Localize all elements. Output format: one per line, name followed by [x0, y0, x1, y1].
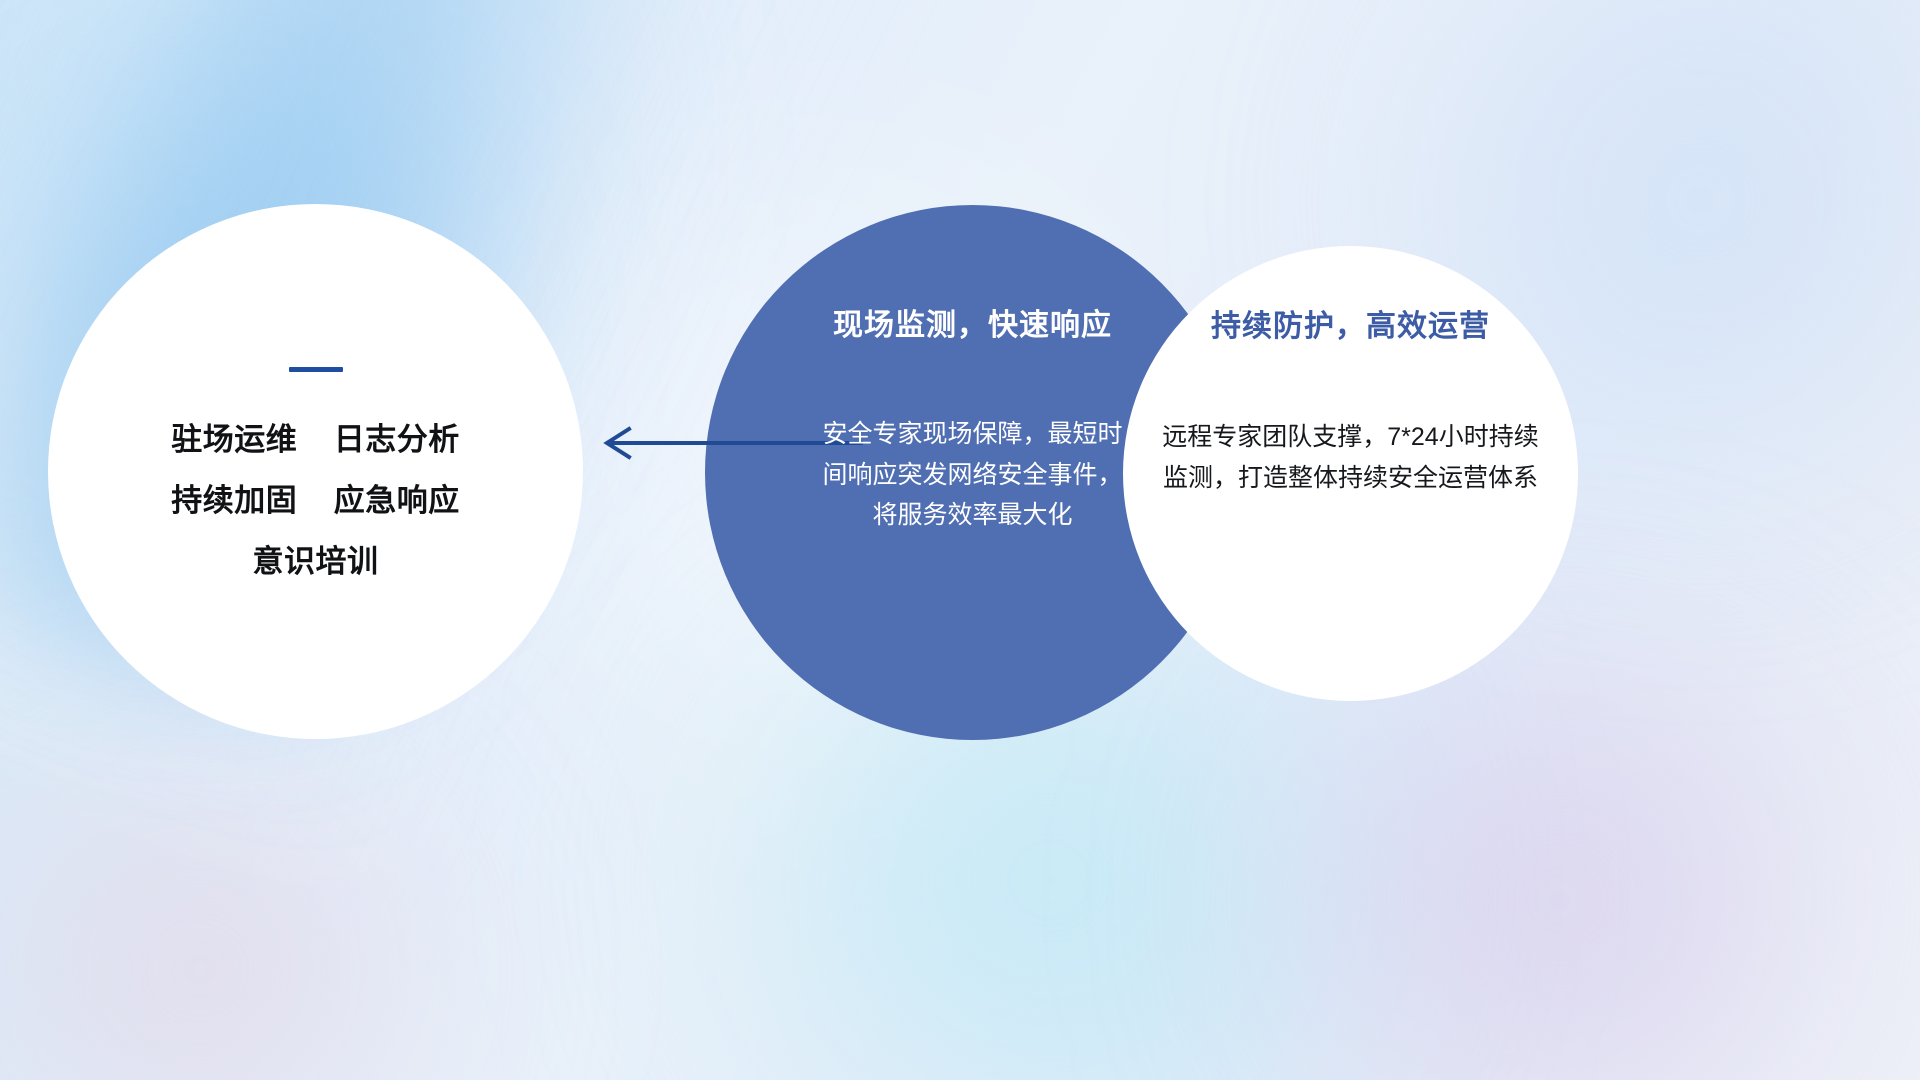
slide-canvas: 驻场运维 日志分析 持续加固 应急响应 意识培训 现场监测，快速响应 安全专家现… [0, 0, 1920, 1080]
center-circle-body: 安全专家现场保障，最短时间响应突发网络安全事件，将服务效率最大化 [823, 414, 1123, 536]
right-circle-content: 持续防护，高效运营 远程专家团队支撑，7*24小时持续监测，打造整体持续安全运营… [1123, 246, 1578, 701]
left-circle-line-3: 意识培训 [253, 546, 379, 577]
right-circle-body: 远程专家团队支撑，7*24小时持续监测，打造整体持续安全运营体系 [1156, 417, 1546, 498]
left-circle-line-2: 持续加固 应急响应 [171, 485, 459, 516]
left-circle-divider [289, 367, 343, 372]
left-circle-content: 驻场运维 日志分析 持续加固 应急响应 意识培训 [48, 204, 583, 739]
center-circle-title: 现场监测，快速响应 [833, 300, 1112, 344]
right-circle-title: 持续防护，高效运营 [1211, 301, 1490, 345]
left-circle-line-1: 驻场运维 日志分析 [171, 424, 459, 455]
